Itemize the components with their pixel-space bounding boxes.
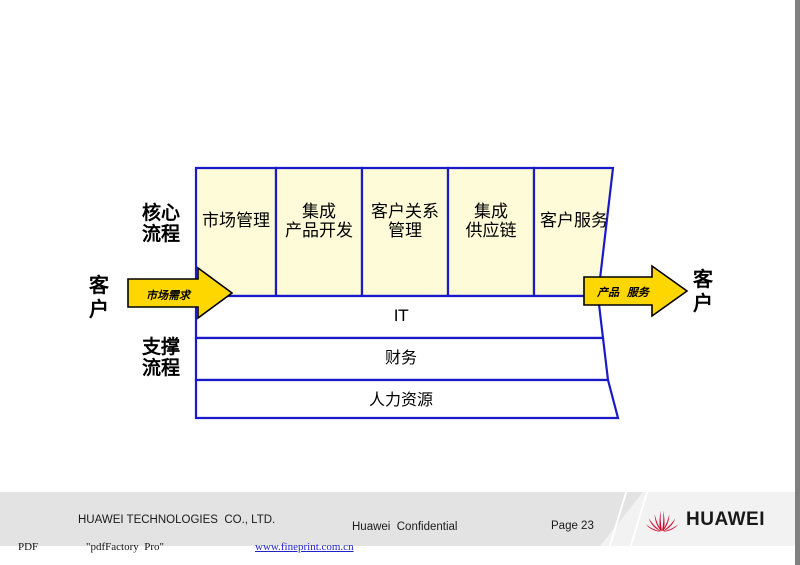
pdf-stamp-url[interactable]: www.fineprint.com.cn [255, 541, 354, 553]
input-arrow-label: 市场需求 [136, 287, 200, 303]
diagram-vector-layer [0, 0, 795, 492]
slide-canvas: 核心 流程 支撑 流程 客 户 客 户 市场管理 集成 产品开发 客户关系 管理… [0, 0, 795, 492]
core-process-cell-integrated-supply-chain: 集成 供应链 [448, 203, 534, 241]
support-process-row-finance: 财务 [196, 349, 606, 367]
huawei-wordmark: HUAWEI [686, 509, 765, 531]
huawei-flower-icon [645, 508, 679, 532]
core-process-cell-customer-relationship-management: 客户关系 管理 [362, 203, 448, 241]
output-arrow-label: 产品 服务 [592, 284, 654, 300]
huawei-logo: HUAWEI [645, 508, 765, 532]
support-process-band-label: 支撑 流程 [130, 337, 192, 380]
pdf-stamp-product: "pdfFactory Pro" [86, 541, 164, 553]
customer-right-label: 客 户 [690, 268, 716, 315]
pdf-stamp-label: PDF [18, 541, 38, 553]
slide-page: 核心 流程 支撑 流程 客 户 客 户 市场管理 集成 产品开发 客户关系 管理… [0, 0, 800, 565]
core-process-cell-integrated-product-development: 集成 产品开发 [276, 203, 362, 241]
customer-left-label: 客 户 [86, 274, 112, 321]
footer-confidentiality-notice: Huawei Confidential [352, 521, 457, 533]
support-process-row-it: IT [196, 307, 606, 325]
process-framework-diagram: 核心 流程 支撑 流程 客 户 客 户 市场管理 集成 产品开发 客户关系 管理… [0, 0, 795, 492]
core-process-band-label: 核心 流程 [130, 203, 192, 246]
core-process-cell-customer-service: 客户服务 [534, 212, 614, 231]
footer-company-name: HUAWEI TECHNOLOGIES CO., LTD. [78, 514, 275, 526]
footer-page-number: Page 23 [551, 520, 594, 532]
support-process-row-human-resources: 人力资源 [196, 391, 606, 409]
core-process-cell-market-management: 市场管理 [196, 212, 276, 231]
